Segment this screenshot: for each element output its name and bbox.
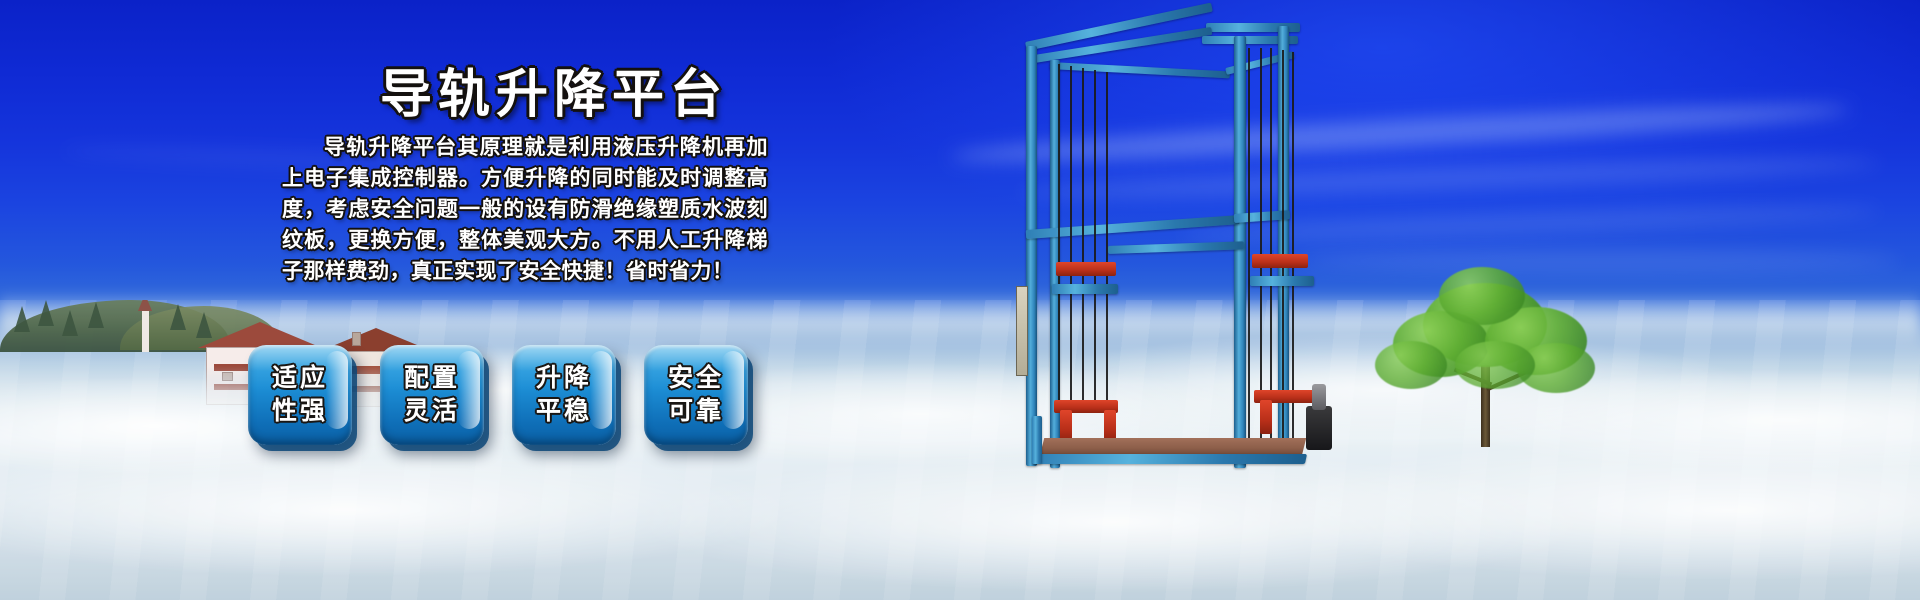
conifer-icon bbox=[170, 304, 186, 330]
feature-label-line1: 安全 bbox=[668, 362, 724, 395]
product-banner: 导轨升降平台 导轨升降平台其原理就是利用液压升降机再加上电子集成控制器。方便升降… bbox=[0, 0, 1920, 600]
conifer-icon bbox=[62, 310, 78, 336]
feature-button-safety[interactable]: 安全 可靠 bbox=[644, 345, 748, 445]
feature-label-line1: 适应 bbox=[272, 362, 328, 395]
feature-label-line2: 性强 bbox=[272, 395, 328, 428]
feature-button-group: 适应 性强 配置 灵活 升降 平稳 安全 可靠 bbox=[248, 345, 748, 445]
conifer-icon bbox=[38, 300, 54, 326]
product-description: 导轨升降平台其原理就是利用液压升降机再加上电子集成控制器。方便升降的同时能及时调… bbox=[282, 132, 768, 287]
page-title: 导轨升降平台 bbox=[380, 52, 728, 127]
feature-button-adaptability[interactable]: 适应 性强 bbox=[248, 345, 352, 445]
church-steeple bbox=[142, 310, 149, 352]
feature-label-line1: 升降 bbox=[536, 362, 592, 395]
control-panel bbox=[1016, 286, 1028, 376]
hydraulic-lift-platform-image bbox=[1020, 18, 1360, 480]
feature-button-configuration[interactable]: 配置 灵活 bbox=[380, 345, 484, 445]
feature-label-line2: 灵活 bbox=[404, 395, 460, 428]
feature-label-line1: 配置 bbox=[404, 362, 460, 395]
feature-button-smoothness[interactable]: 升降 平稳 bbox=[512, 345, 616, 445]
feature-label-line2: 平稳 bbox=[536, 395, 592, 428]
hydraulic-pump-unit bbox=[1306, 406, 1332, 450]
tree-graphic bbox=[1335, 255, 1635, 455]
conifer-icon bbox=[88, 302, 104, 328]
conifer-icon bbox=[14, 306, 30, 332]
feature-label-line2: 可靠 bbox=[668, 395, 724, 428]
